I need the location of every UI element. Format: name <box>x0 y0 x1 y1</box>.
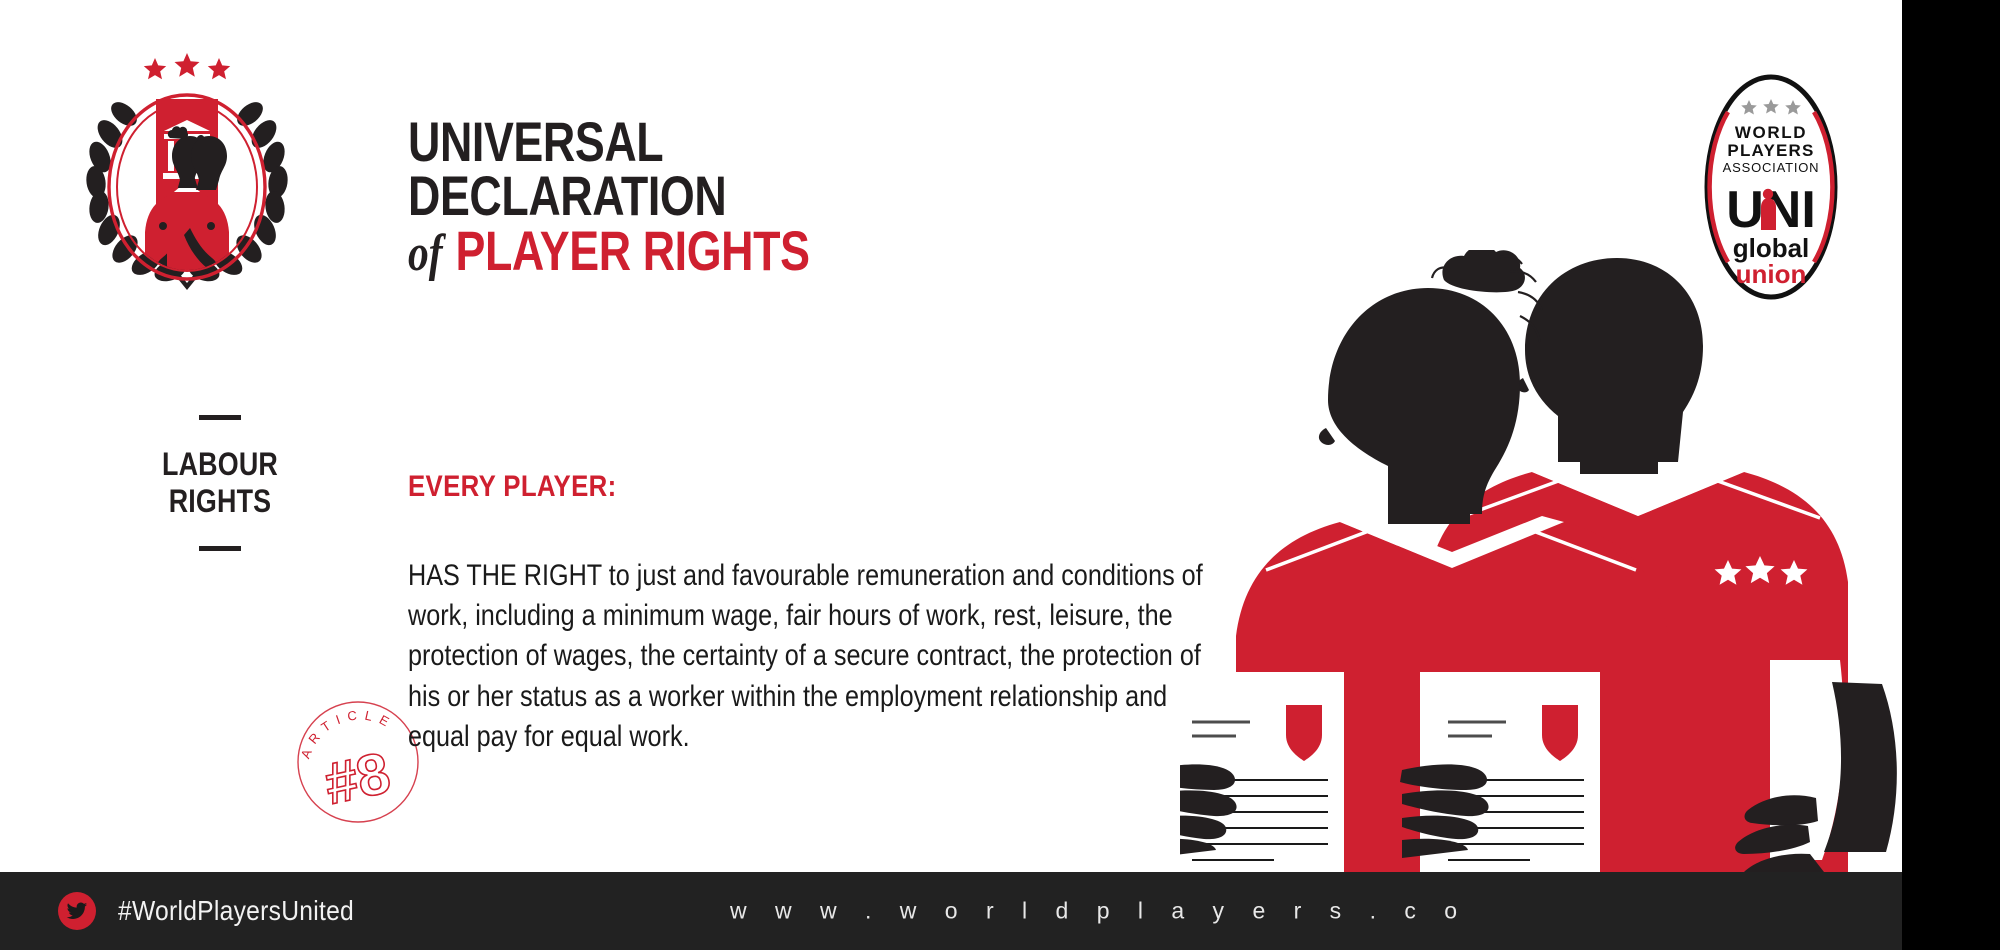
uni-mark-union: union <box>1736 259 1807 289</box>
female-nose <box>1319 428 1335 445</box>
male-neck <box>1580 430 1658 474</box>
title-player-rights: PLAYER RIGHTS <box>455 224 809 278</box>
uni-global-union-mark: UNI global union <box>1726 181 1816 289</box>
right-black-band <box>1902 0 2000 950</box>
article-badge-number: #8 <box>319 740 396 817</box>
title-of-word: of <box>408 229 443 279</box>
footer-url[interactable]: w w w . w o r l d p l a y e r s . c o <box>730 898 1468 925</box>
category-label: LABOUR RIGHTS <box>130 415 310 551</box>
body-paragraph: HAS THE RIGHT to just and favourable rem… <box>408 556 1231 757</box>
female-neck <box>1388 474 1470 524</box>
body-lead: HAS THE RIGHT <box>408 559 602 592</box>
players-illustration <box>1180 250 2000 890</box>
rule-top <box>199 415 241 420</box>
footer-hashtag[interactable]: #WorldPlayersUnited <box>118 895 354 927</box>
body-copy: EVERY PLAYER: HAS THE RIGHT to just and … <box>408 470 1228 757</box>
body-kicker: EVERY PLAYER: <box>408 470 1113 504</box>
rule-bottom <box>199 546 241 551</box>
page-title: UNIVERSAL DECLARATION of PLAYER RIGHTS <box>408 115 910 279</box>
footer-bar: #WorldPlayersUnited w w w . w o r l d p … <box>0 872 2000 950</box>
uni-mark-figure <box>1761 198 1776 230</box>
uni-logo-line-1: WORLD <box>1735 123 1807 142</box>
title-line-3: of PLAYER RIGHTS <box>408 224 810 279</box>
universal-declaration-crest <box>62 42 312 292</box>
title-line-1: UNIVERSAL <box>408 115 810 169</box>
world-players-association-logo: WORLD PLAYERS ASSOCIATION UNI global uni… <box>1702 72 1840 302</box>
uni-logo-line-3: ASSOCIATION <box>1723 160 1820 175</box>
category-line-1: LABOUR <box>144 446 295 483</box>
category-label-text: LABOUR RIGHTS <box>144 446 295 520</box>
twitter-icon[interactable] <box>58 892 96 930</box>
title-line-2: DECLARATION <box>408 169 810 223</box>
poster-canvas: UNIVERSAL DECLARATION of PLAYER RIGHTS L… <box>0 0 2000 950</box>
article-badge: ARTICLE #8 <box>288 690 428 830</box>
uni-mark-figure-head <box>1763 189 1773 199</box>
uni-logo-line-2: PLAYERS <box>1727 141 1814 160</box>
footer-social[interactable]: #WorldPlayersUnited <box>58 892 386 930</box>
category-line-2: RIGHTS <box>144 483 295 520</box>
crest-stars-icon <box>144 53 230 79</box>
